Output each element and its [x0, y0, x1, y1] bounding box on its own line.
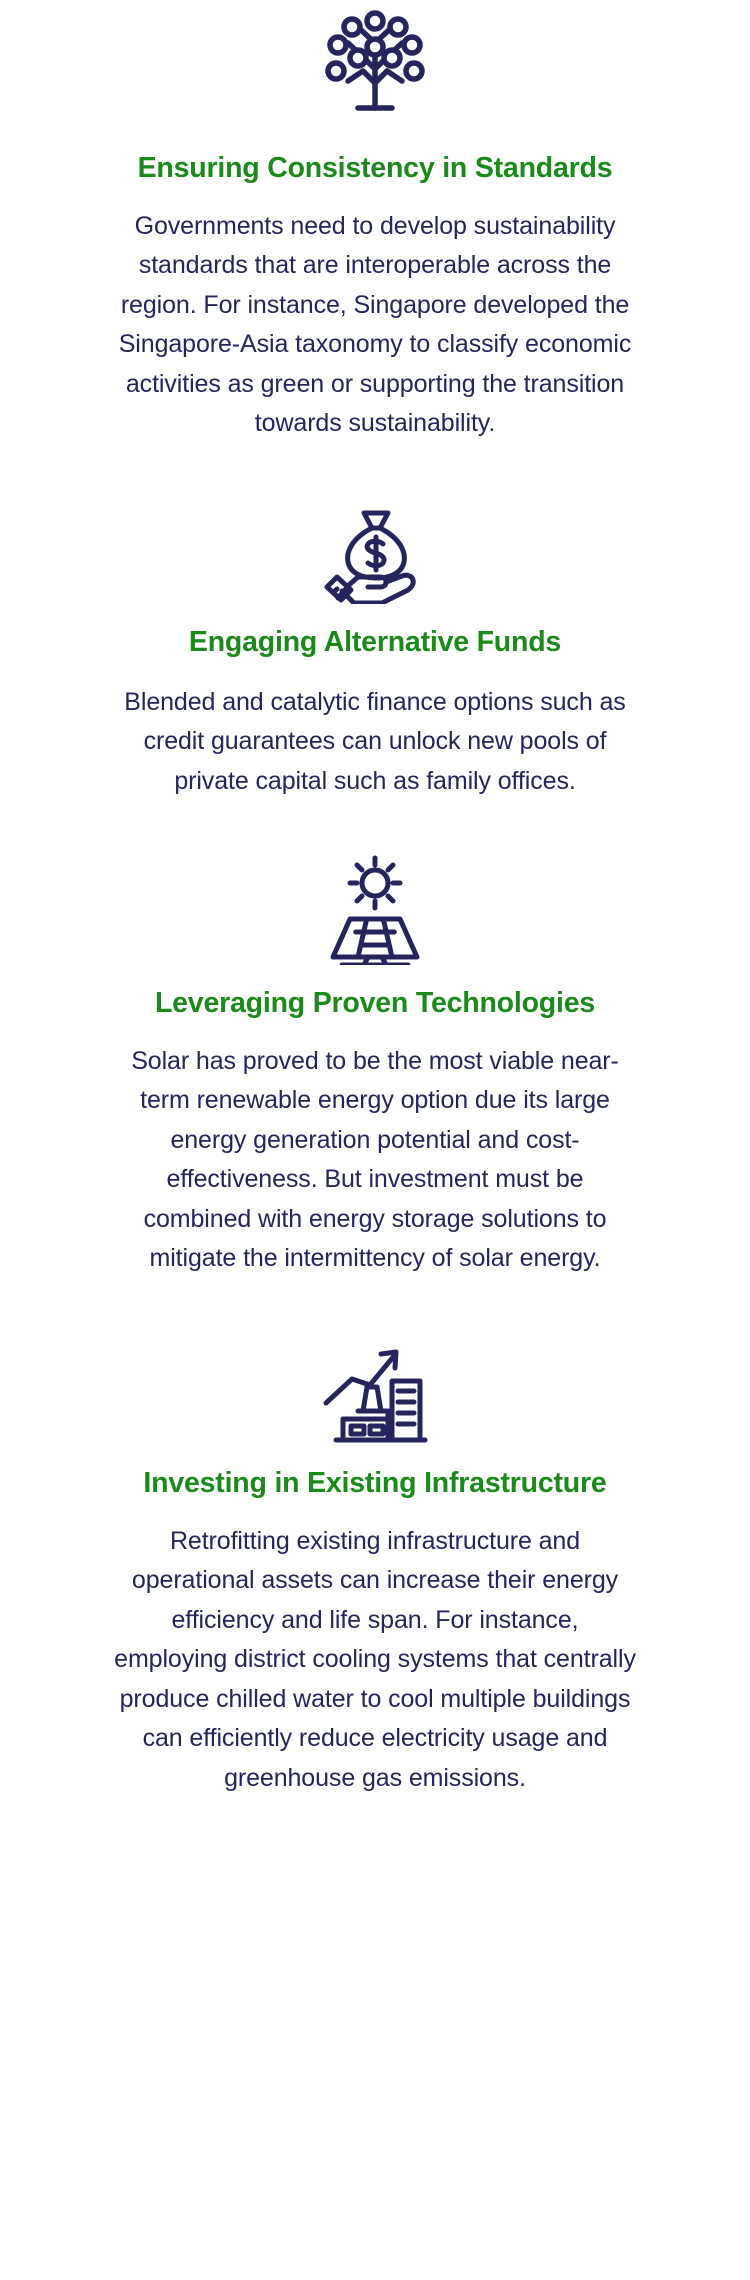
- network-tree-icon: [112, 4, 638, 122]
- hand-holding-money-bag-icon: [112, 484, 638, 604]
- section-ensuring-consistency-in-standards: Ensuring Consistency in Standards Govern…: [0, 0, 750, 444]
- section-body: Solar has proved to be the most viable n…: [112, 1042, 638, 1279]
- solar-panel-icon: [112, 843, 638, 965]
- section-heading: Investing in Existing Infrastructure: [112, 1467, 638, 1500]
- section-heading: Leveraging Proven Technologies: [112, 987, 638, 1020]
- section-engaging-alternative-funds: Engaging Alternative Funds Blended and c…: [0, 444, 750, 801]
- section-leveraging-proven-technologies: Leveraging Proven Technologies Solar has…: [0, 801, 750, 1279]
- section-body: Blended and catalytic finance options su…: [112, 683, 638, 802]
- factory-growth-chart-icon: [112, 1325, 638, 1447]
- infographic-page: Ensuring Consistency in Standards Govern…: [0, 0, 750, 2280]
- section-investing-in-existing-infrastructure: Investing in Existing Infrastructure Ret…: [0, 1279, 750, 1798]
- section-heading: Ensuring Consistency in Standards: [112, 152, 638, 185]
- section-body: Retrofitting existing infrastructure and…: [112, 1522, 638, 1799]
- section-body: Governments need to develop sustainabili…: [112, 207, 638, 444]
- section-heading: Engaging Alternative Funds: [112, 626, 638, 659]
